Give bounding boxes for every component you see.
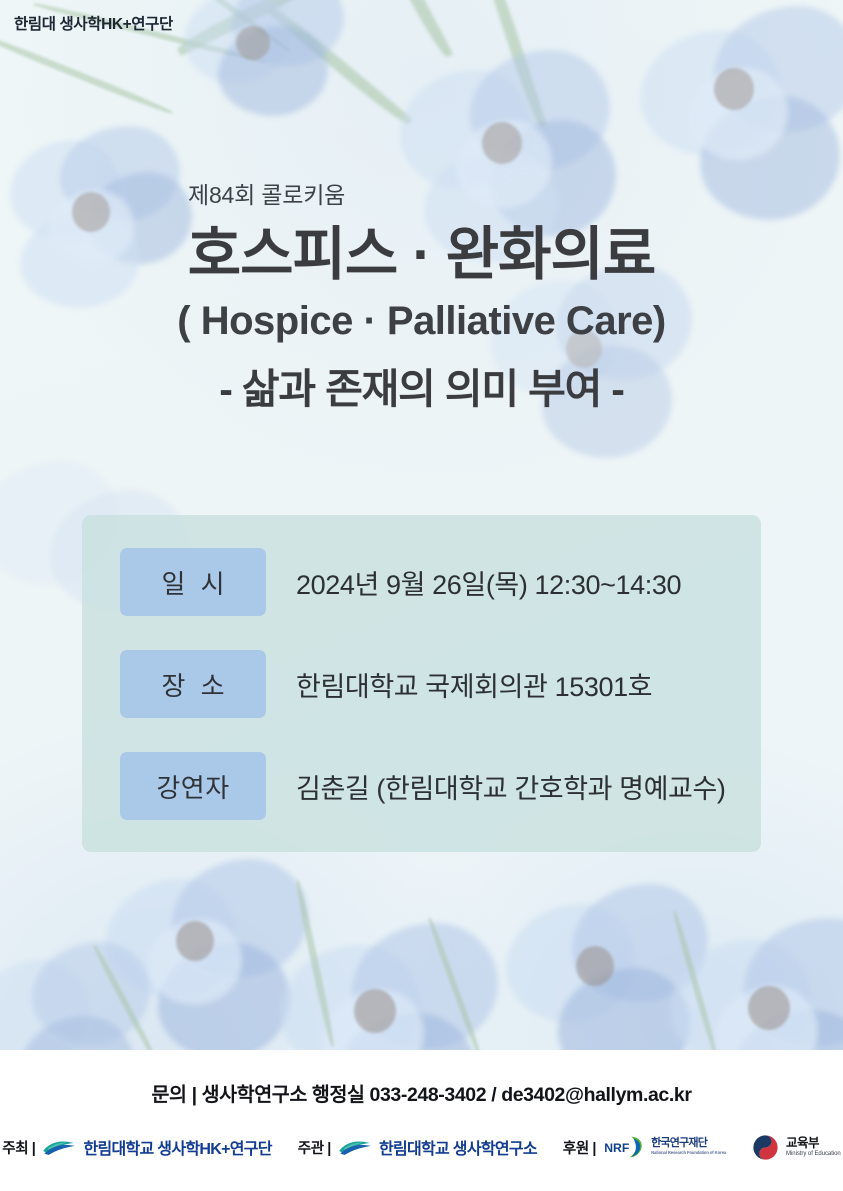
info-label-speaker: 강연자 (120, 752, 266, 820)
page-title: 호스피스 · 완화의료 (0, 224, 843, 285)
organizer-role-label: 주관 | (298, 1137, 331, 1158)
nrf-name-en: National Research Foundation of Korea (651, 1151, 726, 1155)
host-name: 한림대학교 생사학HK+연구단 (83, 1135, 271, 1159)
nrf-name: 한국연구재단 National Research Foundation of K… (651, 1138, 726, 1155)
ministry-name-kr: 교육부 (786, 1137, 841, 1150)
contact-line: 문의 | 생사학연구소 행정실 033-248-3402 / de3402@ha… (0, 1078, 843, 1107)
taegeuk-icon (752, 1134, 779, 1161)
ministry-name-en: Ministry of Education (786, 1151, 841, 1157)
host-role-label: 주최 | (2, 1137, 35, 1158)
host-logo-group: 주최 | 한림대학교 생사학HK+연구단 (2, 1135, 272, 1159)
info-row-speaker: 강연자 김춘길 (한림대학교 간호학과 명예교수) (120, 752, 741, 820)
leaf-shape (367, 0, 454, 60)
title-subtitle: - 삶과 존재의 의미 부여 - (0, 367, 843, 412)
colloquium-number: 제84회 콜로키움 (182, 176, 843, 210)
info-value-datetime: 2024년 9월 26일(목) 12:30~14:30 (296, 563, 681, 602)
svg-text:NRF: NRF (604, 1141, 629, 1155)
info-value-location: 한림대학교 국제회의관 15301호 (296, 665, 652, 704)
info-row-datetime: 일 시 2024년 9월 26일(목) 12:30~14:30 (120, 548, 741, 616)
hallym-wave-icon (338, 1137, 372, 1157)
sponsor-role-label: 후원 | (563, 1137, 596, 1158)
organizer-logo-group: 주관 | 한림대학교 생사학연구소 (298, 1135, 537, 1159)
poster-canvas: 한림대 생사학HK+연구단 제84회 콜로키움 호스피스 · 완화의료 ( Ho… (0, 0, 843, 1191)
title-block: 제84회 콜로키움 호스피스 · 완화의료 ( Hospice · Pallia… (0, 176, 843, 413)
nrf-name-kr: 한국연구재단 (651, 1138, 726, 1149)
sponsor-logo-bar: 주최 | 한림대학교 생사학HK+연구단 주관 | 한림대학교 생사학연구소 (0, 1125, 843, 1169)
info-value-speaker: 김춘길 (한림대학교 간호학과 명예교수) (296, 767, 726, 806)
info-label-location: 장 소 (120, 650, 266, 718)
ministry-name: 교육부 Ministry of Education (786, 1137, 841, 1157)
nrf-logo-icon: NRF (603, 1134, 644, 1160)
info-row-location: 장 소 한림대학교 국제회의관 15301호 (120, 650, 741, 718)
flower-blossom (178, 0, 368, 150)
leaf-stem (0, 31, 174, 116)
footer: 문의 | 생사학연구소 행정실 033-248-3402 / de3402@ha… (0, 1050, 843, 1191)
title-english: ( Hospice · Palliative Care) (0, 299, 843, 343)
organization-tag: 한림대 생사학HK+연구단 (14, 12, 173, 34)
event-info-panel: 일 시 2024년 9월 26일(목) 12:30~14:30 장 소 한림대학… (82, 515, 761, 852)
info-label-datetime: 일 시 (120, 548, 266, 616)
hallym-wave-icon (42, 1137, 76, 1157)
organizer-name: 한림대학교 생사학연구소 (379, 1135, 537, 1159)
sponsor-logo-group: 후원 | NRF 한국연구재단 National Research Founda… (563, 1134, 726, 1160)
ministry-logo-group: 교육부 Ministry of Education (752, 1134, 841, 1161)
